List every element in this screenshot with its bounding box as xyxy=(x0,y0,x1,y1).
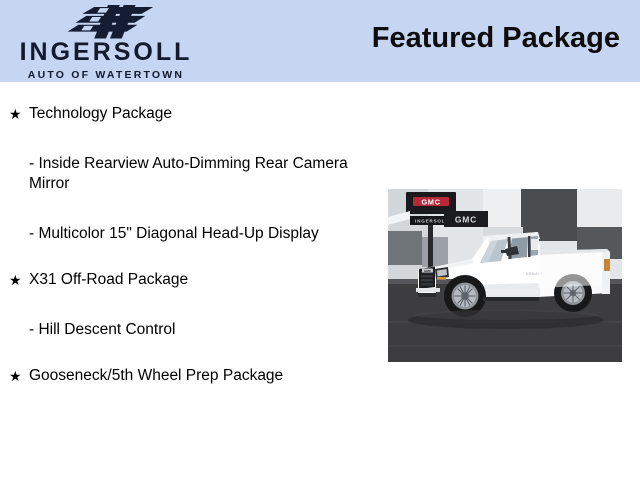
dealer-logo: INGERSOLL AUTO OF WATERTOWN xyxy=(0,2,212,80)
list-item: - Inside Rearview Auto-Dimming Rear Came… xyxy=(0,154,382,194)
feature-label: Gooseneck/5th Wheel Prep Package xyxy=(29,367,283,384)
list-item: ★ Technology Package xyxy=(0,104,382,124)
feature-list: ★ Technology Package - Inside Rearview A… xyxy=(0,82,382,386)
list-item: - Hill Descent Control xyxy=(0,320,382,340)
vehicle-photo-image: GMC INGERSOLL GMC xyxy=(388,189,622,362)
vehicle-photo: GMC INGERSOLL GMC xyxy=(388,189,622,362)
list-item: - Multicolor 15" Diagonal Head-Up Displa… xyxy=(0,224,382,244)
svg-text:GMC: GMC xyxy=(424,269,432,273)
svg-text:GMC: GMC xyxy=(455,215,477,225)
content-area: ★ Technology Package - Inside Rearview A… xyxy=(0,82,640,480)
dealer-tagline: AUTO OF WATERTOWN xyxy=(28,70,184,81)
list-item: ★ Gooseneck/5th Wheel Prep Package xyxy=(0,366,382,386)
star-bullet-icon: ★ xyxy=(9,270,22,290)
star-bullet-icon: ★ xyxy=(9,104,22,124)
feature-label: - Multicolor 15" Diagonal Head-Up Displa… xyxy=(29,225,319,242)
dealer-name: INGERSOLL xyxy=(20,40,193,65)
list-item: ★ X31 Off-Road Package xyxy=(0,270,382,290)
ingersoll-wing-emblem-icon xyxy=(50,5,162,39)
page-header: INGERSOLL AUTO OF WATERTOWN Featured Pac… xyxy=(0,0,640,82)
feature-label: - Inside Rearview Auto-Dimming Rear Came… xyxy=(29,155,348,192)
svg-text:INGERSOLL: INGERSOLL xyxy=(415,219,449,224)
star-bullet-icon: ★ xyxy=(9,366,22,386)
feature-label: - Hill Descent Control xyxy=(29,321,175,338)
svg-text:GMC: GMC xyxy=(421,198,440,207)
feature-label: X31 Off-Road Package xyxy=(29,271,188,288)
feature-label: Technology Package xyxy=(29,105,172,122)
page-title: Featured Package xyxy=(372,24,620,53)
